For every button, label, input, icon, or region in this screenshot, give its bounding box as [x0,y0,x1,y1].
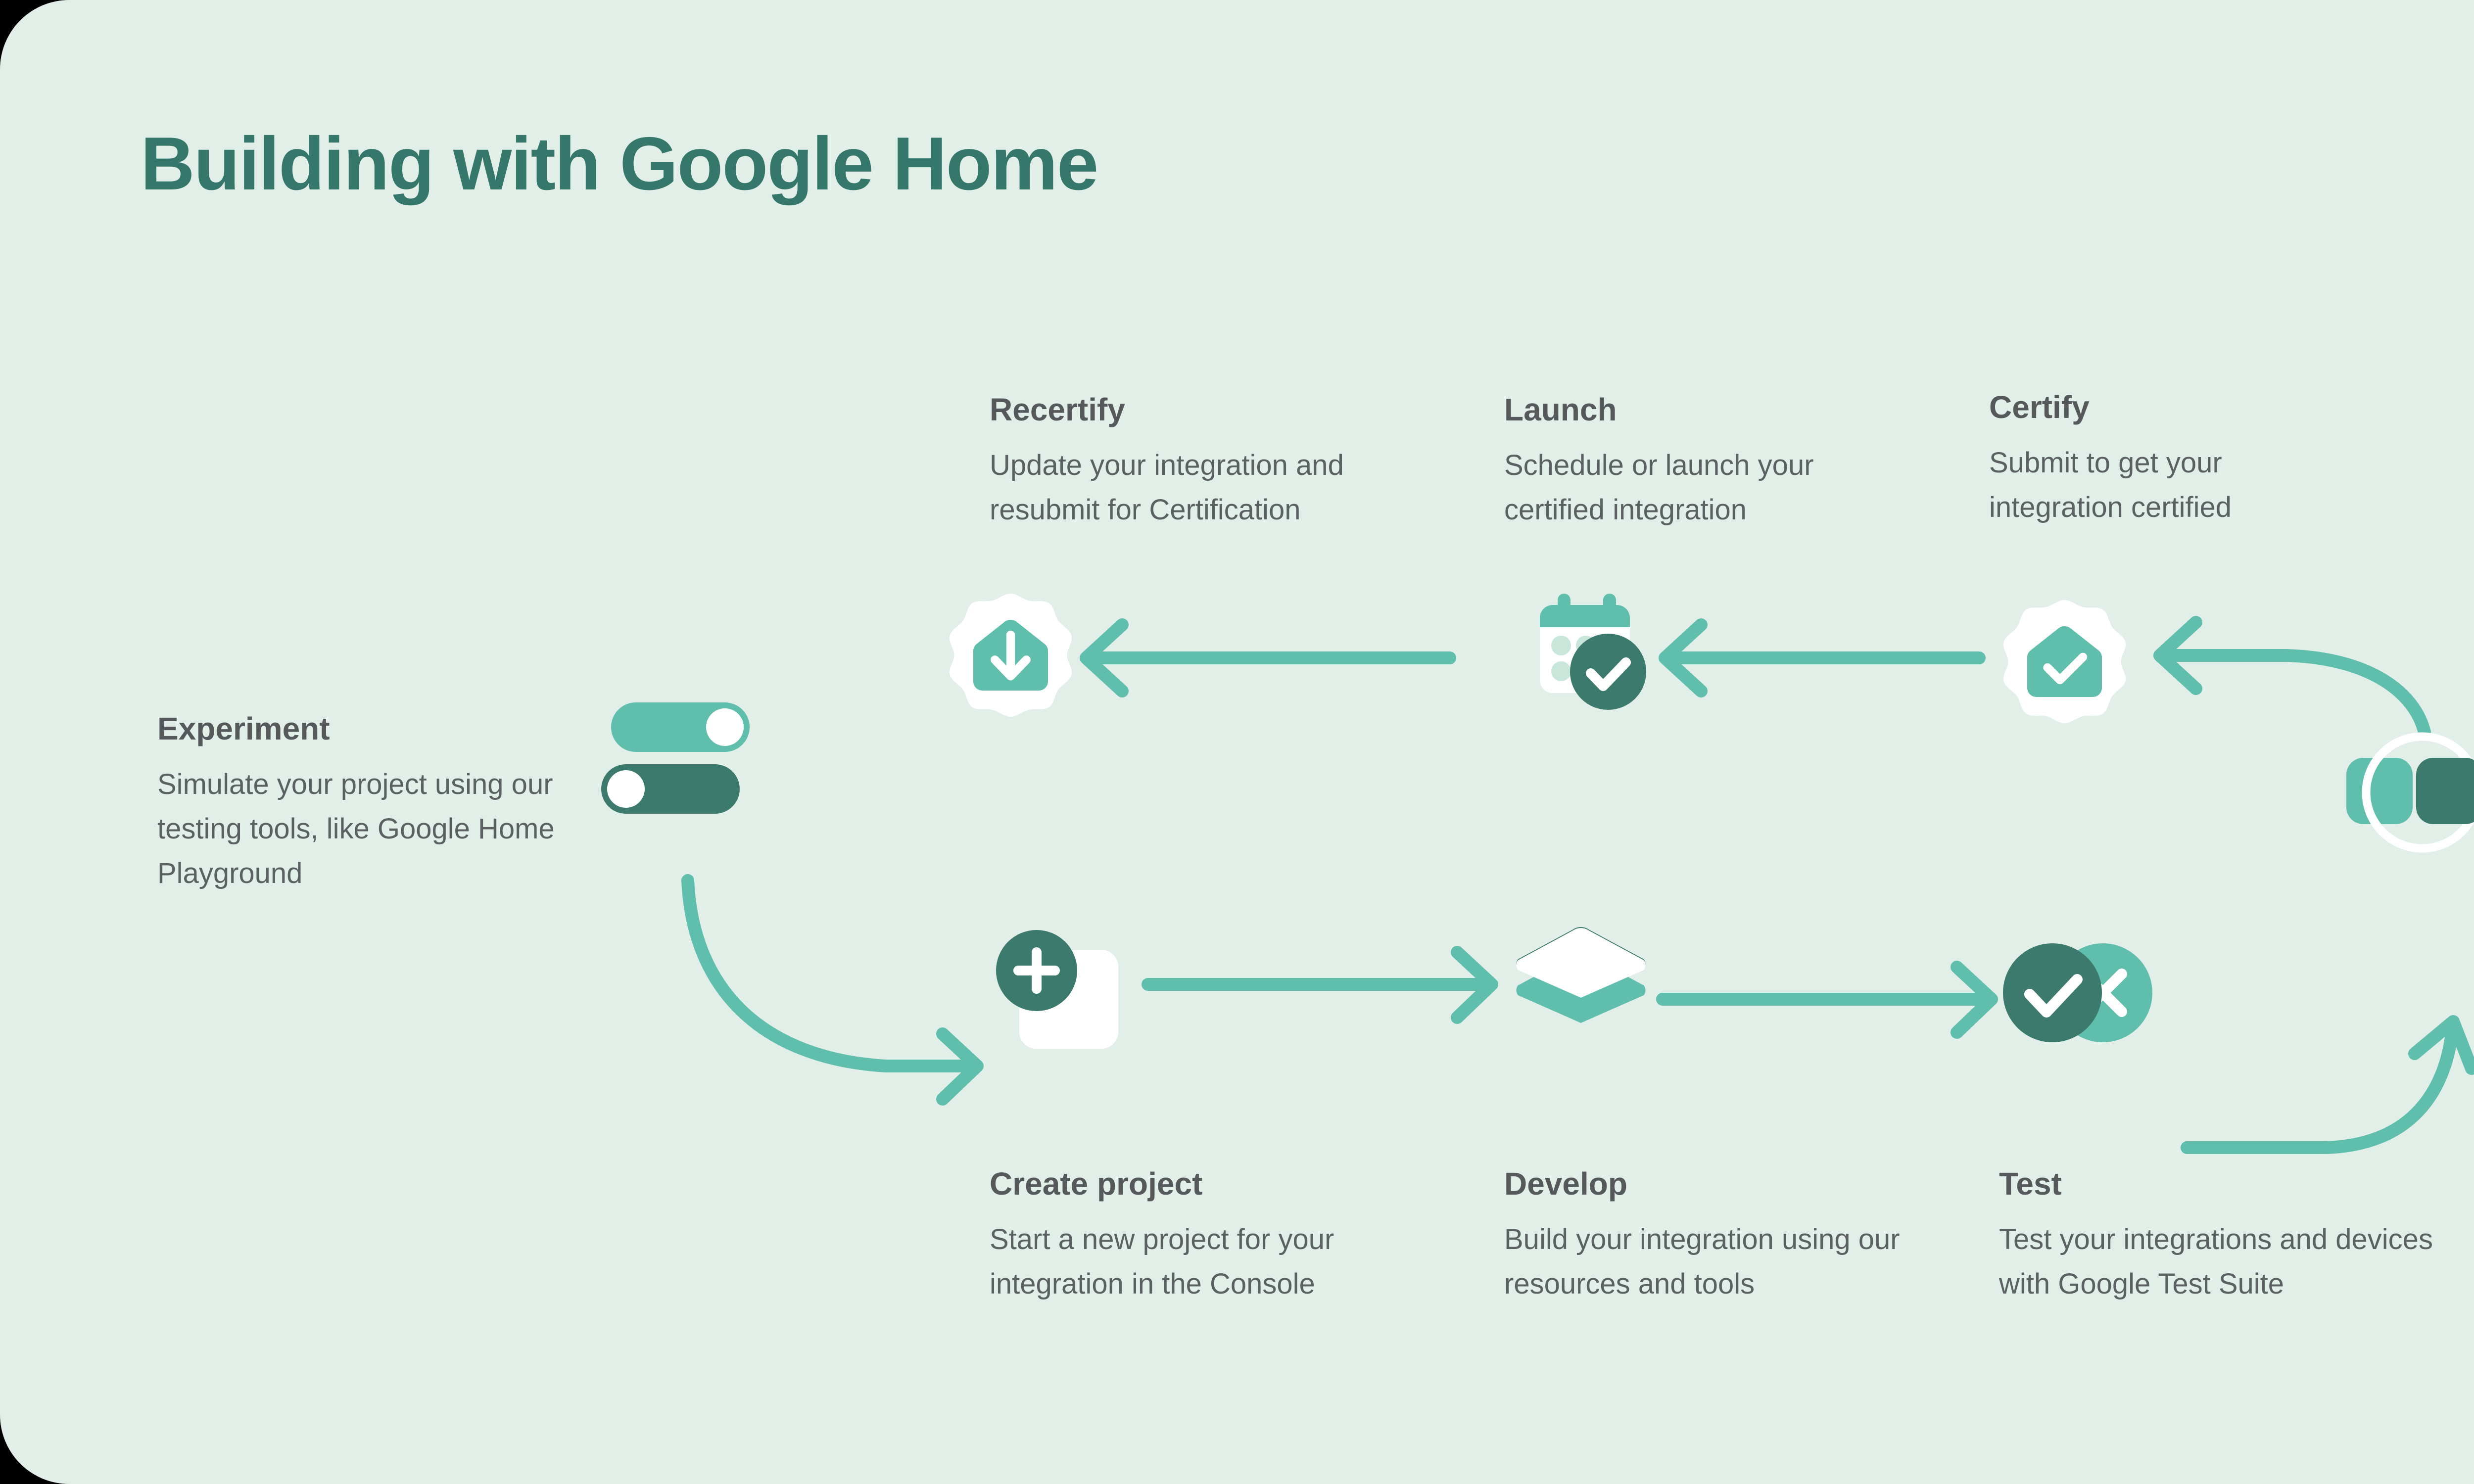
arrow-test-to-fieldtrial [2187,1021,2472,1148]
certification-badge-check-icon[interactable] [1999,596,2130,727]
devices-in-circle-icon[interactable] [2316,702,2474,866]
node-launch-title: Launch [1504,393,1950,426]
arrow-experiment-to-create [688,881,977,1099]
node-certify-desc: Submit to get your integration certified [1989,441,2335,530]
check-circle-icon [2003,943,2102,1042]
node-create-project-desc: Start a new project for your integration… [990,1217,1405,1306]
node-launch-desc: Schedule or launch your certified integr… [1504,443,1860,532]
node-test: Test Test your integrations and devices … [1999,1167,2474,1306]
node-test-title: Test [1999,1167,2474,1201]
arrow-certify-to-launch [1665,625,1979,691]
node-experiment: Experiment Simulate your project using o… [157,712,603,896]
certification-badge-download-icon[interactable] [945,590,1076,721]
node-create-project-title: Create project [990,1167,1484,1201]
arrow-develop-to-test [1663,967,1992,1032]
node-certify: Certify Submit to get your integration c… [1989,391,2434,530]
node-certify-title: Certify [1989,391,2434,424]
toggle-on-icon[interactable] [611,702,750,752]
calendar-check-icon[interactable] [1514,586,1658,730]
node-launch: Launch Schedule or launch your certified… [1504,393,1950,532]
node-develop: Develop Build your integration using our… [1504,1167,1999,1306]
arrow-launch-to-recertify [1086,625,1450,691]
node-develop-title: Develop [1504,1167,1999,1201]
node-develop-desc: Build your integration using our resourc… [1504,1217,1920,1306]
add-project-icon[interactable] [985,925,1133,1059]
node-create-project: Create project Start a new project for y… [990,1167,1484,1306]
node-experiment-title: Experiment [157,712,603,745]
arrow-create-to-develop [1148,952,1492,1018]
layers-icon[interactable] [1509,925,1653,1068]
toggle-knob [607,770,645,808]
node-recertify-title: Recertify [990,393,1460,426]
check-and-cross-circles-icon[interactable] [1999,940,2162,1049]
diagram-canvas: Building with Google Home [0,0,2474,1484]
toggle-off-icon[interactable] [601,764,740,814]
toggle-knob [706,708,744,746]
node-recertify-desc: Update your integration and resubmit for… [990,443,1420,532]
node-experiment-desc: Simulate your project using our testing … [157,762,583,896]
node-test-desc: Test your integrations and devices with … [1999,1217,2469,1306]
toggle-switches-icon[interactable] [601,702,750,816]
node-recertify: Recertify Update your integration and re… [990,393,1460,532]
page-title: Building with Google Home [141,126,1097,201]
